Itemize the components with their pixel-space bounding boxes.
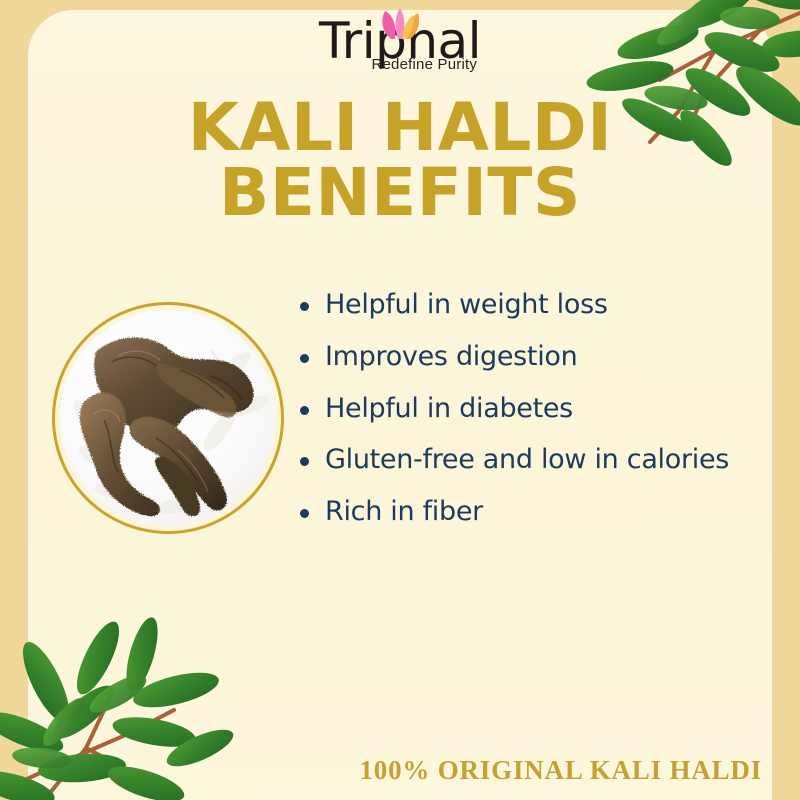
benefit-label: Helpful in weight loss (325, 288, 608, 322)
list-item: Gluten-free and low in calories (300, 443, 786, 477)
benefit-label: Rich in fiber (325, 495, 483, 529)
list-item: Improves digestion (300, 340, 786, 374)
bullet-dot-icon (300, 406, 309, 415)
title-line-1: KALI HALDI (40, 96, 760, 161)
list-item: Helpful in diabetes (300, 392, 786, 426)
product-ring (52, 302, 284, 534)
list-item: Helpful in weight loss (300, 288, 786, 322)
benefit-label: Gluten-free and low in calories (325, 443, 729, 477)
bullet-dot-icon (300, 509, 309, 518)
brand-logo[interactable]: Triphal Redefine Purity (0, 16, 800, 92)
benefit-label: Improves digestion (325, 340, 577, 374)
title-line-2: BENEFITS (40, 161, 760, 226)
poster-canvas: Triphal Redefine Purity KALI HALDI BENEF… (0, 0, 800, 800)
bullet-dot-icon (300, 457, 309, 466)
benefits-list: Helpful in weight loss Improves digestio… (300, 288, 786, 547)
bullet-dot-icon (300, 354, 309, 363)
brand-tagline: Redefine Purity (371, 57, 477, 72)
lotus-flower-icon (376, 6, 422, 40)
footer-guarantee-text: 100% ORIGINAL KALI HALDI (359, 755, 762, 786)
benefit-label: Helpful in diabetes (325, 392, 573, 426)
product-image (52, 302, 284, 534)
bottom-left-leaves-icon (0, 562, 278, 800)
page-title: KALI HALDI BENEFITS (40, 96, 760, 225)
list-item: Rich in fiber (300, 495, 786, 529)
bullet-dot-icon (300, 302, 309, 311)
